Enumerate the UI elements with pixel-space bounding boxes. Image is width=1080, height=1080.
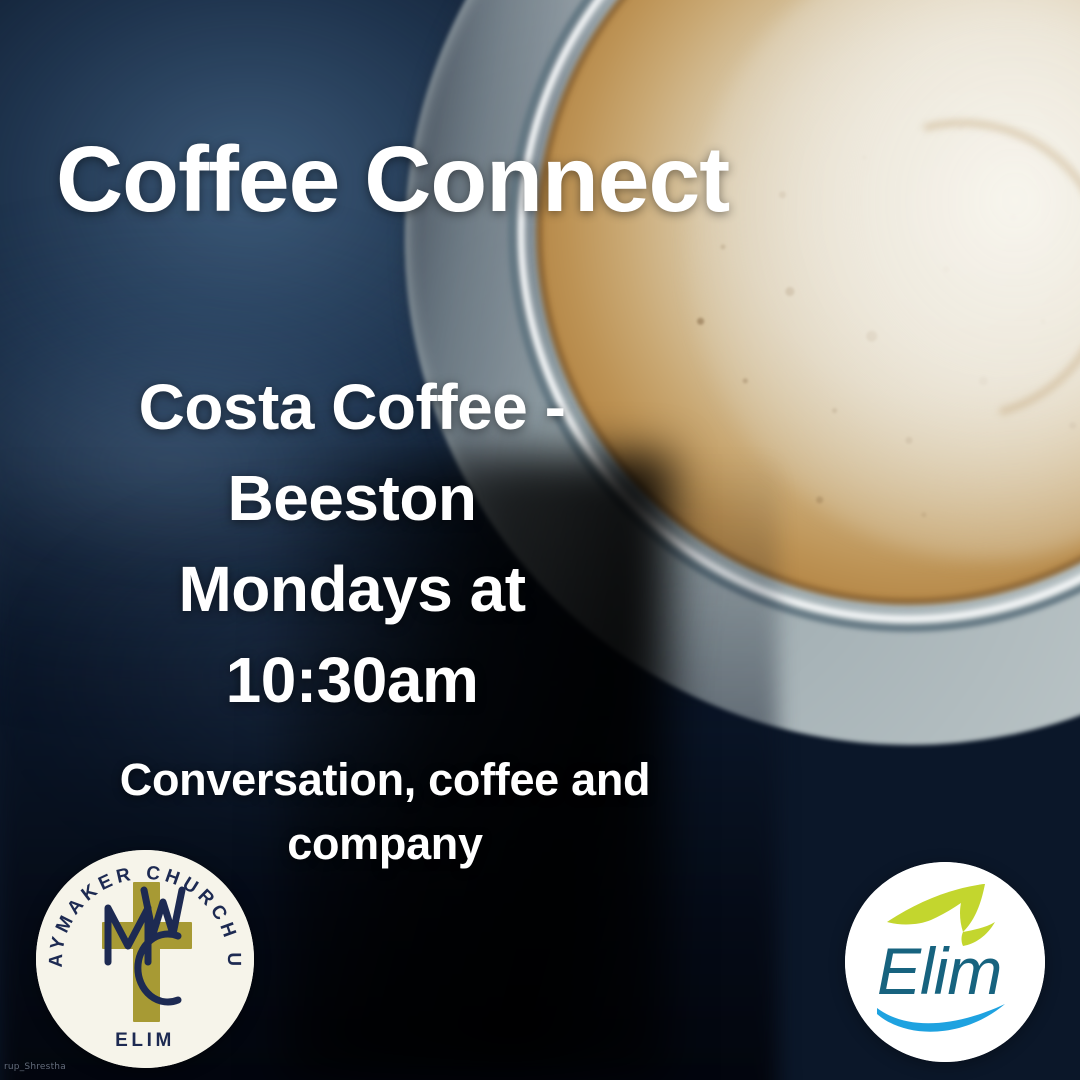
event-detail-line: Beeston [52, 453, 652, 544]
waymaker-church-logo: WAYMAKER CHURCH UK ELIM [36, 850, 254, 1068]
coffee-connect-poster: Coffee Connect Costa Coffee - Beeston Mo… [0, 0, 1080, 1080]
watermark: rup_Shrestha [4, 1062, 66, 1072]
event-detail-line: Mondays at [52, 544, 652, 635]
event-detail-line: Costa Coffee - [52, 362, 652, 453]
page-title: Coffee Connect [56, 132, 796, 227]
event-details: Costa Coffee - Beeston Mondays at 10:30a… [52, 362, 652, 726]
elim-logo: Elim [845, 862, 1045, 1062]
elim-wordmark: Elim [877, 934, 1001, 1008]
church-bottom-text: ELIM [115, 1030, 175, 1051]
event-detail-line: 10:30am [52, 635, 652, 726]
event-tagline-line: Conversation, coffee and [52, 748, 718, 812]
